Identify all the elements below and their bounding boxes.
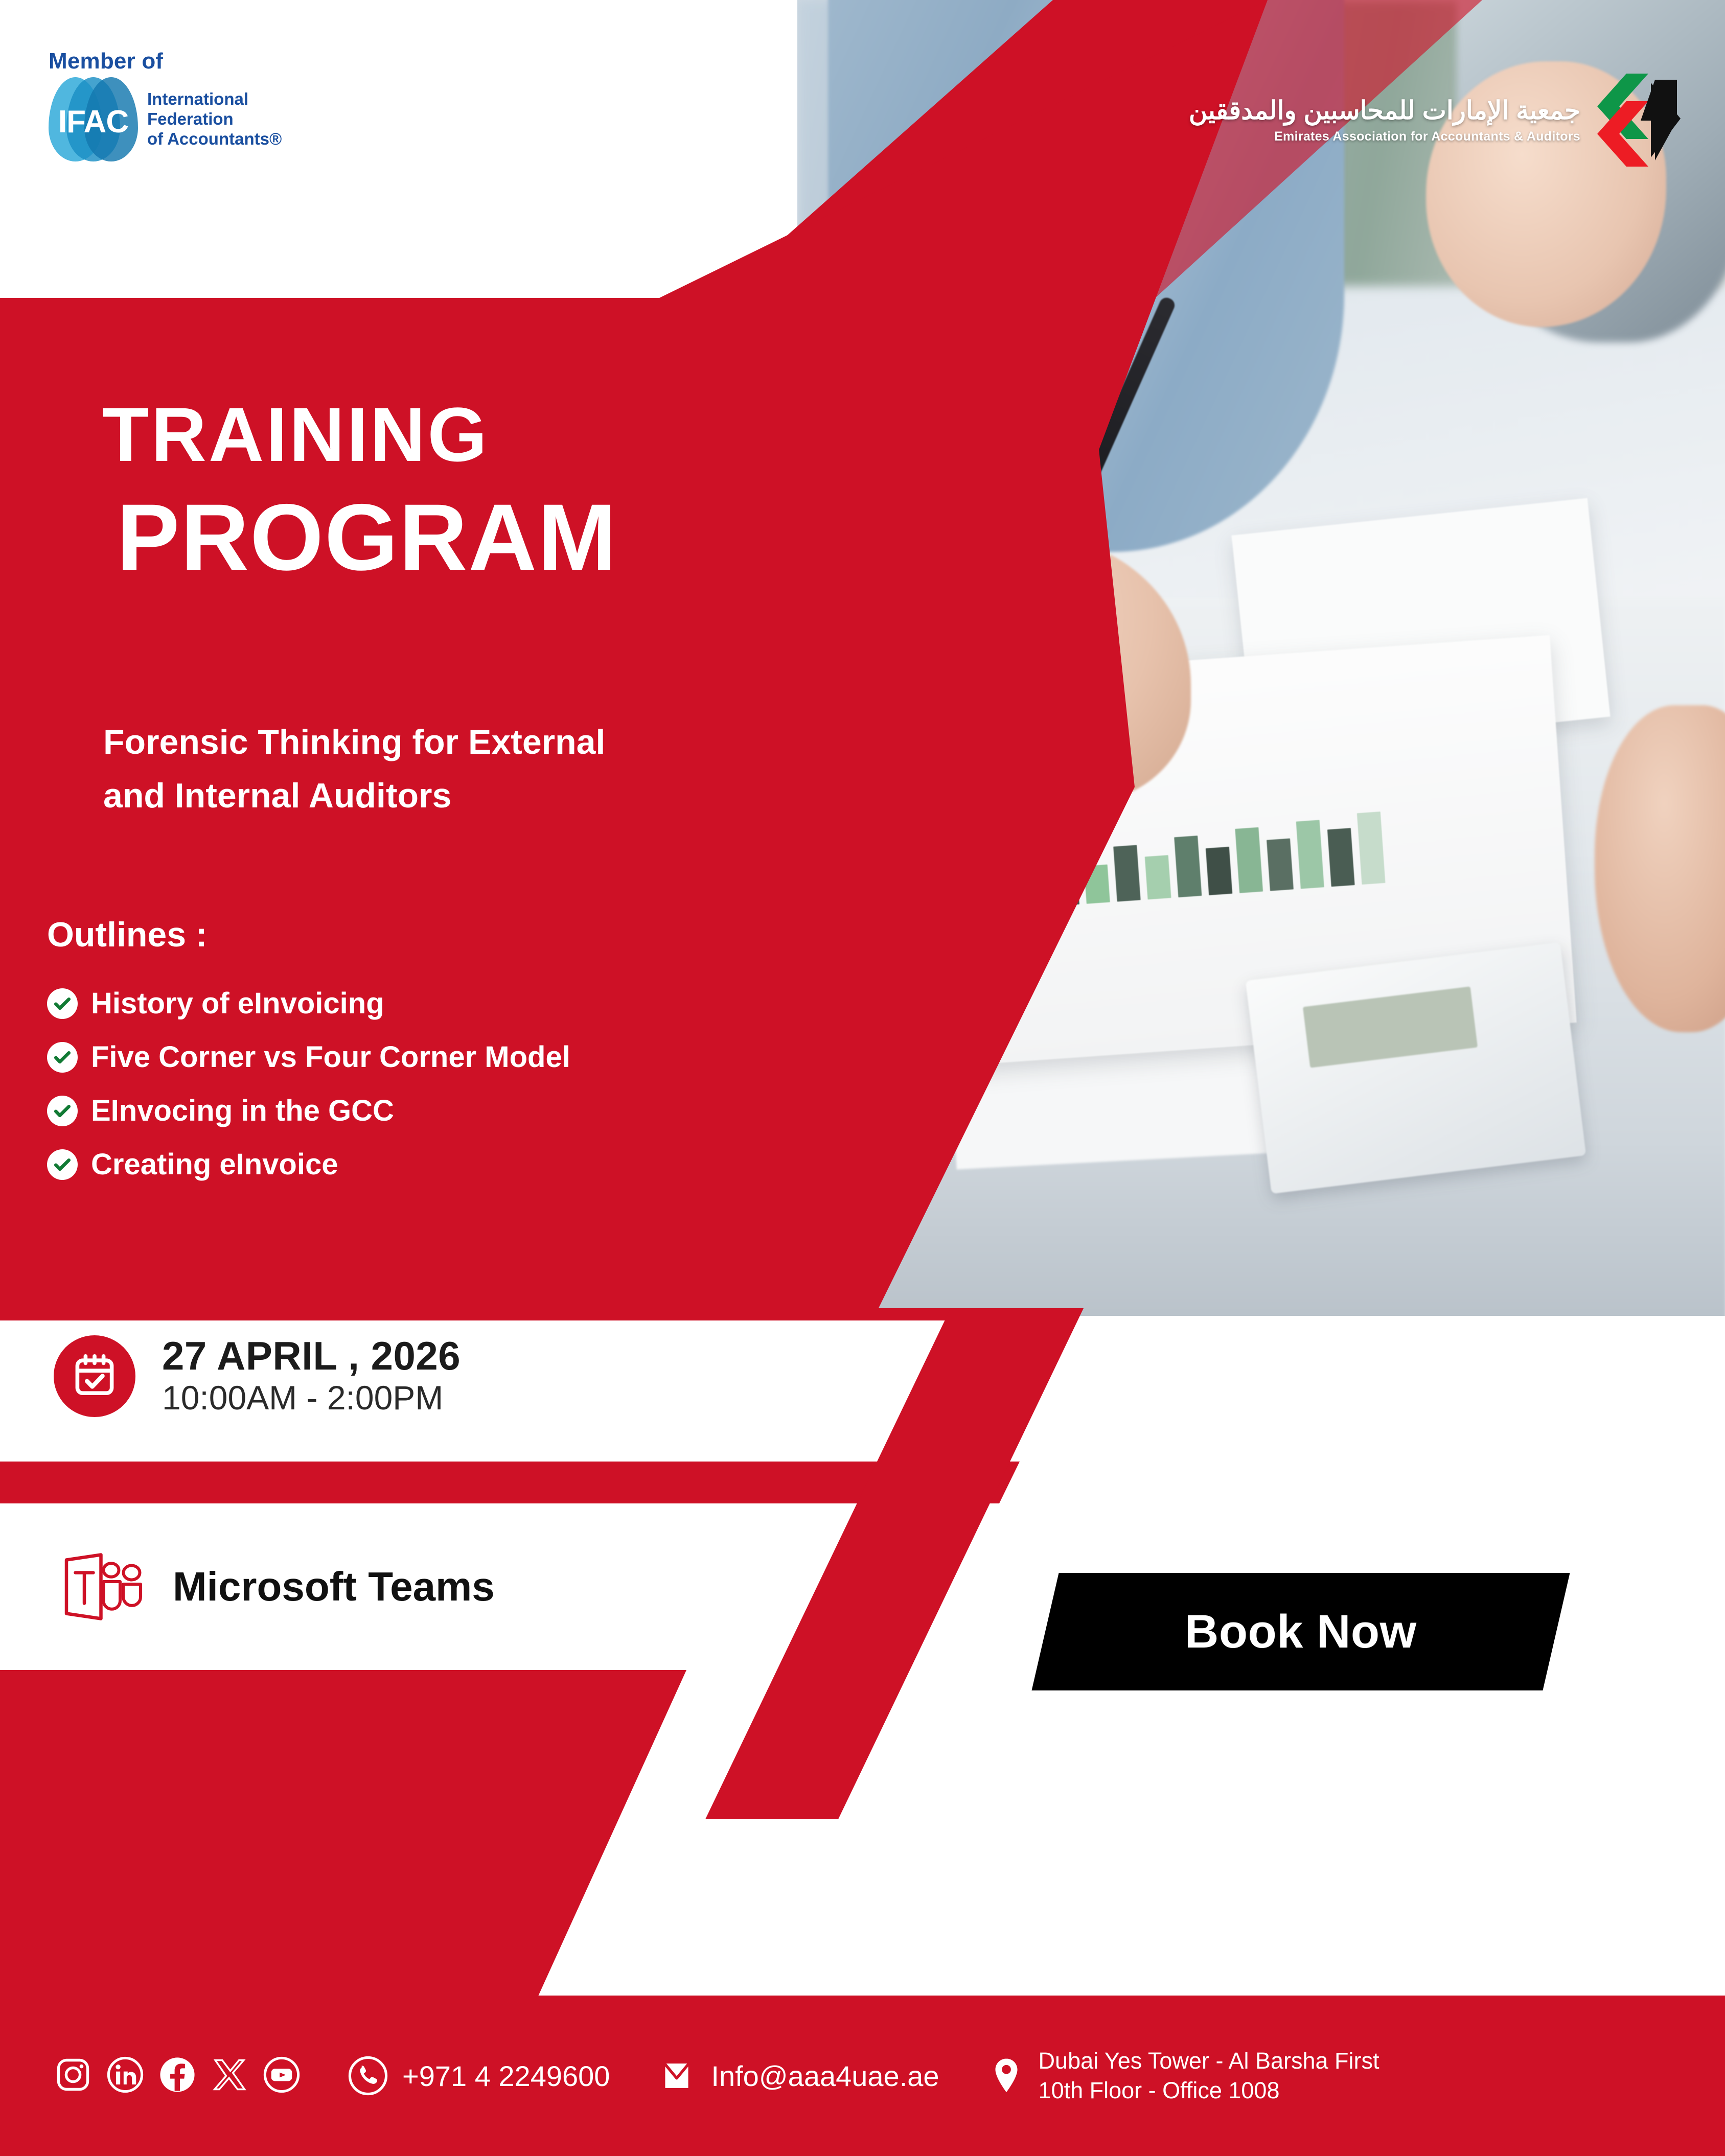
ifac-acronym: IFAC (49, 104, 138, 140)
outlines-heading: Outlines : (47, 915, 208, 955)
address-contact: Dubai Yes Tower - Al Barsha First 10th F… (985, 2046, 1379, 2106)
youtube-icon[interactable] (262, 2055, 301, 2097)
social-links (54, 2055, 301, 2097)
association-name-english: Emirates Association for Accountants & A… (1189, 129, 1580, 144)
book-now-label: Book Now (1185, 1605, 1417, 1659)
list-item: Five Corner vs Four Corner Model (47, 1040, 788, 1074)
ifac-name-line2: Federation (147, 109, 282, 129)
footer: +971 4 2249600 Info@aaa4uae.ae Dubai Yes… (0, 1996, 1725, 2156)
event-time: 10:00AM - 2:00PM (162, 1378, 461, 1418)
calendar-check-icon (54, 1335, 135, 1417)
address-text: Dubai Yes Tower - Al Barsha First 10th F… (1039, 2046, 1379, 2106)
instagram-icon[interactable] (54, 2055, 93, 2097)
page-title-line1: TRAINING (102, 396, 489, 473)
email-address: Info@aaa4uae.ae (711, 2059, 939, 2093)
association-name-arabic: جمعية الإمارات للمحاسبين والمدققين (1189, 96, 1580, 126)
outline-item-label: EInvocing in the GCC (91, 1094, 394, 1128)
check-circle-icon (47, 988, 78, 1019)
facebook-icon[interactable] (158, 2055, 197, 2097)
book-now-button[interactable]: Book Now (1031, 1573, 1570, 1690)
email-contact[interactable]: Info@aaa4uae.ae (656, 2055, 939, 2097)
program-subtitle: Forensic Thinking for External and Inter… (103, 715, 819, 823)
check-circle-icon (47, 1096, 78, 1126)
phone-icon (347, 2055, 389, 2097)
red-panel-base (0, 1308, 1104, 1320)
outline-item-label: Creating eInvoice (91, 1147, 338, 1181)
platform-name: Microsoft Teams (173, 1563, 495, 1610)
subtitle-line1: Forensic Thinking for External (103, 715, 819, 769)
list-item: EInvocing in the GCC (47, 1094, 788, 1128)
phone-contact[interactable]: +971 4 2249600 (347, 2055, 610, 2097)
outline-item-label: History of eInvoicing (91, 986, 384, 1021)
email-icon (656, 2055, 698, 2097)
platform-block: Microsoft Teams (61, 1548, 495, 1625)
outline-item-label: Five Corner vs Four Corner Model (91, 1040, 570, 1074)
address-line2: 10th Floor - Office 1008 (1039, 2076, 1379, 2106)
list-item: History of eInvoicing (47, 986, 788, 1021)
check-circle-icon (47, 1149, 78, 1180)
phone-number: +971 4 2249600 (402, 2059, 610, 2093)
list-item: Creating eInvoice (47, 1147, 788, 1181)
microsoft-teams-icon (61, 1548, 148, 1625)
x-twitter-icon[interactable] (210, 2055, 249, 2097)
photo-calculator (1246, 942, 1586, 1194)
ifac-name-line1: International (147, 89, 282, 109)
subtitle-line2: and Internal Auditors (103, 769, 819, 823)
address-line1: Dubai Yes Tower - Al Barsha First (1039, 2046, 1379, 2076)
schedule-block: 27 APRIL , 2026 10:00AM - 2:00PM (54, 1334, 461, 1418)
ifac-logo: Member of IFAC International Federation … (49, 49, 376, 166)
ifac-member-of-label: Member of (49, 49, 376, 74)
linkedin-icon[interactable] (106, 2055, 145, 2097)
training-program-poster: Member of IFAC International Federation … (0, 0, 1725, 2156)
location-pin-icon (985, 2055, 1027, 2097)
ifac-full-name: International Federation of Accountants® (147, 89, 282, 149)
outlines-list: History of eInvoicing Five Corner vs Fou… (47, 986, 788, 1201)
check-circle-icon (47, 1042, 78, 1073)
ifac-name-line3: of Accountants® (147, 129, 282, 149)
event-date: 27 APRIL , 2026 (162, 1334, 461, 1378)
emirates-association-logo: جمعية الإمارات للمحاسبين والمدققين Emira… (1189, 72, 1684, 169)
page-title-line2: PROGRAM (117, 491, 617, 585)
association-chevron-icon (1595, 72, 1684, 169)
ifac-mark-icon: IFAC (49, 77, 138, 161)
